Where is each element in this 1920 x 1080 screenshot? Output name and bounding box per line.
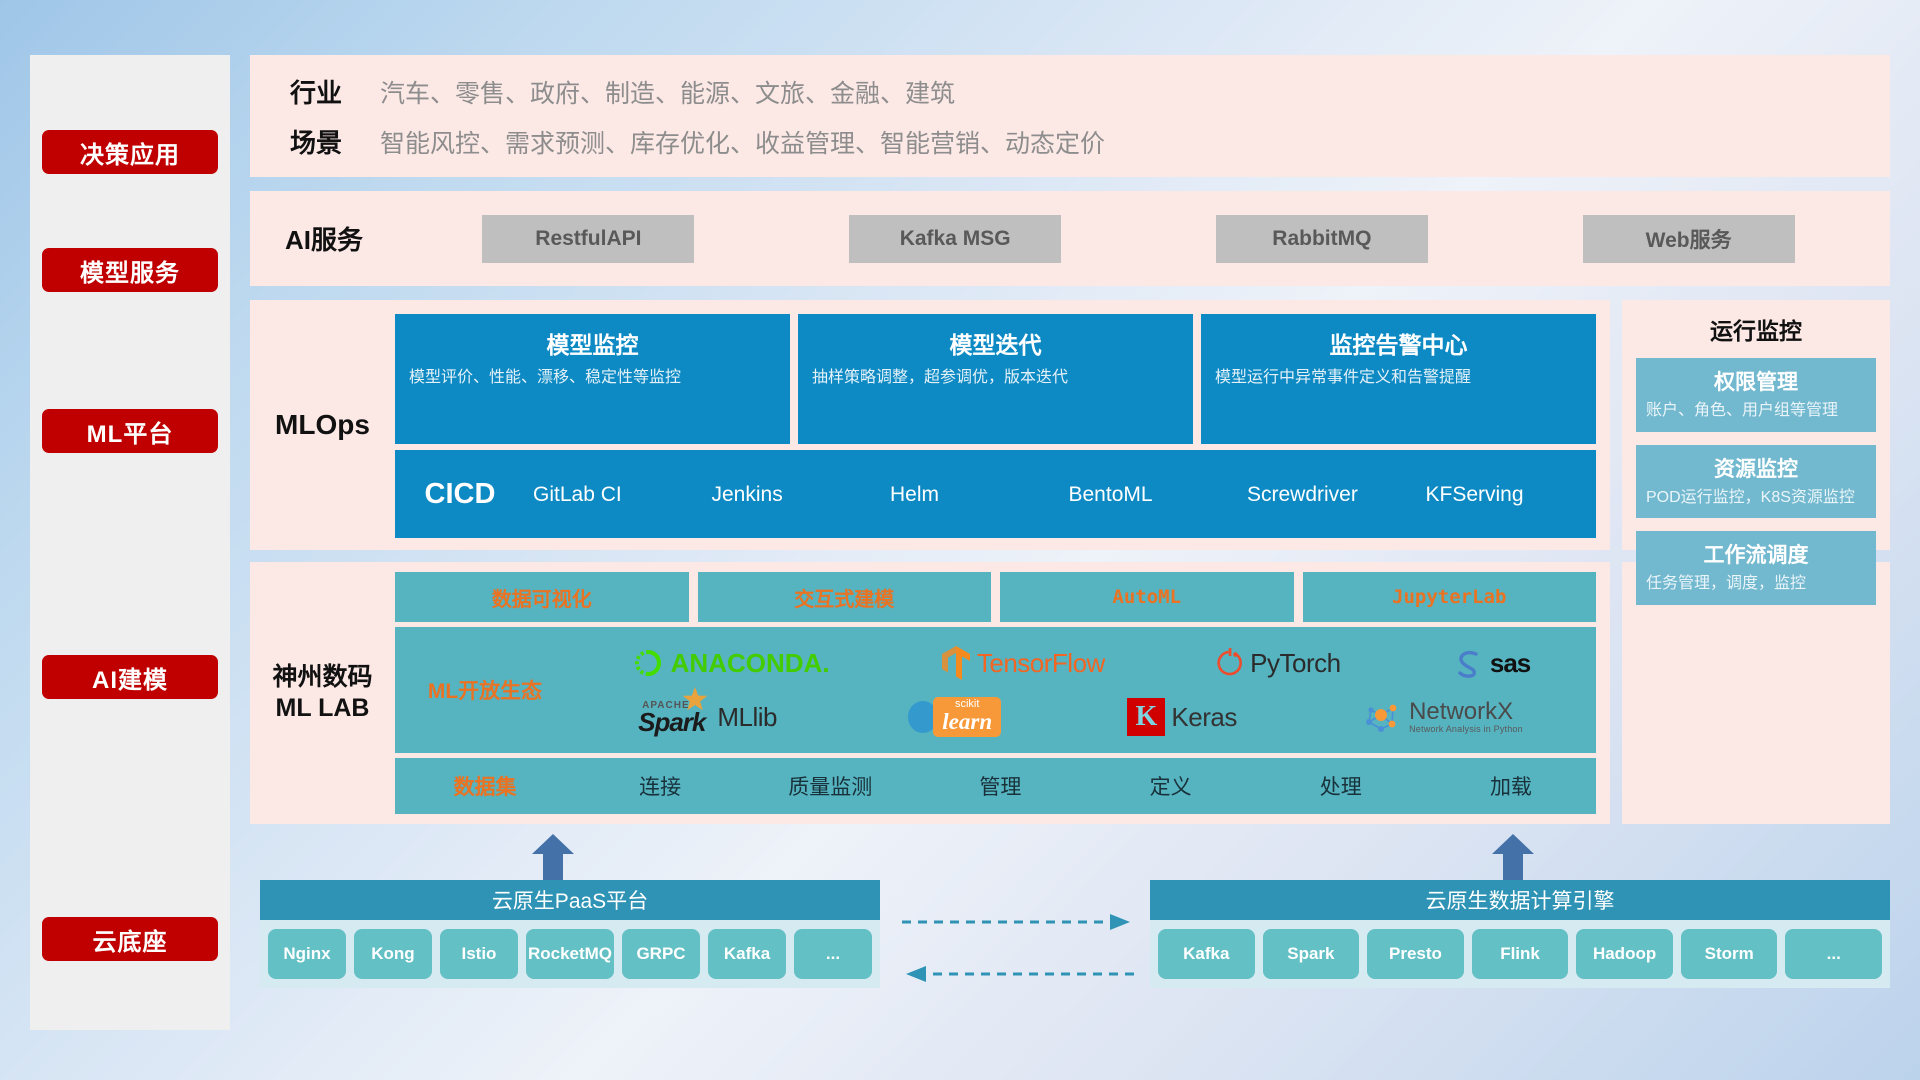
tensorflow-logo: TensorFlow	[941, 645, 1105, 681]
ai-service-rabbitmq[interactable]: RabbitMQ	[1216, 215, 1428, 263]
card-title: 资源监控	[1646, 453, 1866, 483]
networkx-tagline: Network Analysis in Python	[1409, 724, 1523, 734]
stage-label: ML平台	[87, 414, 174, 449]
cicd-item-gitlab-ci[interactable]: GitLab CI	[525, 484, 704, 505]
card-desc: 任务管理，调度，监控	[1646, 573, 1866, 595]
dataset-item-quality[interactable]: 质量监测	[745, 771, 915, 801]
stage-rail: 决策应用 模型服务 ML平台 AI建模 云底座	[30, 55, 230, 1030]
ai-service-kafka-msg[interactable]: Kafka MSG	[849, 215, 1061, 263]
monitor-card-workflow[interactable]: 工作流调度 任务管理，调度，监控	[1636, 531, 1876, 605]
mlops-card-model-monitoring[interactable]: 模型监控 模型评价、性能、漂移、稳定性等监控	[395, 314, 790, 444]
paas-chip-istio[interactable]: Istio	[440, 929, 518, 979]
ecosystem-logo-grid: ANACONDA. TensorFlow	[575, 637, 1596, 743]
ml-lab-pane: 神州数码 ML LAB 数据可视化 交互式建模 AutoML JupyterLa…	[250, 562, 1610, 824]
paas-chip-more[interactable]: ...	[794, 929, 872, 979]
ml-lab-label: 神州数码 ML LAB	[250, 572, 395, 814]
dataset-title: 数据集	[395, 771, 575, 801]
dataset-item-load[interactable]: 加载	[1426, 771, 1596, 801]
mlops-pane: MLOps 模型监控 模型评价、性能、漂移、稳定性等监控 模型迭代 抽样策略调整…	[250, 300, 1610, 550]
learn-wordmark: learn	[942, 710, 992, 733]
runtime-monitor-pane: 运行监控 权限管理 账户、角色、用户组等管理 资源监控 POD运行监控，K8S资…	[1622, 300, 1890, 550]
cicd-item-bentoml[interactable]: BentoML	[1061, 484, 1240, 505]
compute-title: 云原生数据计算引擎	[1150, 880, 1890, 920]
paas-chip-row: Nginx Kong Istio RocketMQ GRPC Kafka ...	[260, 920, 880, 988]
keras-logo: K Keras	[1127, 698, 1236, 736]
paas-chip-grpc[interactable]: GRPC	[622, 929, 700, 979]
mlops-card-alert-center[interactable]: 监控告警中心 模型运行中异常事件定义和告警提醒	[1201, 314, 1596, 444]
paas-chip-nginx[interactable]: Nginx	[268, 929, 346, 979]
monitor-card-resource[interactable]: 资源监控 POD运行监控，K8S资源监控	[1636, 445, 1876, 519]
paas-chip-kong[interactable]: Kong	[354, 929, 432, 979]
mlops-card-row: 模型监控 模型评价、性能、漂移、稳定性等监控 模型迭代 抽样策略调整，超参调优，…	[395, 314, 1596, 444]
cloud-native-paas-group: 云原生PaaS平台 Nginx Kong Istio RocketMQ GRPC…	[260, 880, 880, 988]
card-title: 模型监控	[409, 326, 776, 360]
industry-label: 行业	[250, 73, 380, 110]
compute-chip-spark[interactable]: Spark	[1263, 929, 1360, 979]
networkx-wordmark: NetworkX	[1409, 700, 1513, 724]
compute-up-arrow-icon	[1490, 834, 1536, 882]
card-desc: 抽样策略调整，超参调优，版本迭代	[812, 367, 1179, 389]
dataset-items: 连接 质量监测 管理 定义 处理 加载	[575, 771, 1596, 801]
dataset-item-connect[interactable]: 连接	[575, 771, 745, 801]
ml-lab-tool-row: 数据可视化 交互式建模 AutoML JupyterLab	[395, 572, 1596, 622]
stage-label: AI建模	[92, 660, 168, 695]
ml-open-ecosystem-label: ML开放生态	[395, 675, 575, 705]
stage-label: 决策应用	[80, 135, 180, 170]
tool-interactive-modeling[interactable]: 交互式建模	[698, 572, 992, 622]
runtime-monitor-title: 运行监控	[1636, 312, 1876, 346]
cicd-item-jenkins[interactable]: Jenkins	[704, 484, 883, 505]
card-desc: 账户、角色、用户组等管理	[1646, 400, 1866, 422]
mlops-content: 模型监控 模型评价、性能、漂移、稳定性等监控 模型迭代 抽样策略调整，超参调优，…	[395, 300, 1610, 550]
dataset-row: 数据集 连接 质量监测 管理 定义 处理 加载	[395, 758, 1596, 814]
ai-service-band: AI服务 RestfulAPI Kafka MSG RabbitMQ Web服务	[250, 191, 1890, 286]
cicd-title: CICD	[395, 478, 525, 511]
ml-lab-label-line1: 神州数码	[272, 662, 372, 693]
ai-service-cell: Web服务	[1505, 215, 1872, 263]
compute-chip-more[interactable]: ...	[1785, 929, 1882, 979]
compute-chip-flink[interactable]: Flink	[1472, 929, 1569, 979]
spark-star-icon	[682, 687, 708, 713]
dataset-item-define[interactable]: 定义	[1086, 771, 1256, 801]
tool-data-visualization[interactable]: 数据可视化	[395, 572, 689, 622]
keras-mark-icon: K	[1127, 698, 1165, 736]
sas-logo: sas	[1452, 647, 1530, 679]
card-title: 模型迭代	[812, 326, 1179, 360]
scenario-row: 场景 智能风控、需求预测、库存优化、收益管理、智能营销、动态定价	[250, 123, 1105, 160]
stage-label: 模型服务	[80, 253, 180, 288]
tensorflow-mark-icon	[941, 645, 971, 681]
ml-lab-label-line2: ML LAB	[276, 693, 370, 724]
card-desc: 模型运行中异常事件定义和告警提醒	[1215, 367, 1582, 389]
sas-wordmark: sas	[1490, 648, 1530, 679]
tool-automl[interactable]: AutoML	[1000, 572, 1294, 622]
dataset-item-process[interactable]: 处理	[1256, 771, 1426, 801]
stage-chip-ai-modeling[interactable]: AI建模	[42, 655, 218, 699]
ai-service-list: RestfulAPI Kafka MSG RabbitMQ Web服务	[405, 215, 1890, 263]
ml-platform-band: MLOps 模型监控 模型评价、性能、漂移、稳定性等监控 模型迭代 抽样策略调整…	[250, 300, 1890, 550]
scikit-learn-logo: scikit learn	[903, 697, 1001, 737]
anaconda-wordmark: ANACONDA.	[671, 648, 830, 679]
paas-chip-kafka[interactable]: Kafka	[708, 929, 786, 979]
compute-chip-kafka[interactable]: Kafka	[1158, 929, 1255, 979]
ai-service-cell: RabbitMQ	[1139, 215, 1506, 263]
decision-application-band: 行业 汽车、零售、政府、制造、能源、文旅、金融、建筑 场景 智能风控、需求预测、…	[250, 55, 1890, 177]
tensorflow-wordmark: TensorFlow	[977, 648, 1105, 679]
ml-lab-content: 数据可视化 交互式建模 AutoML JupyterLab ML开放生态	[395, 572, 1596, 814]
ml-open-ecosystem-row: ML开放生态 ANACONDA.	[395, 627, 1596, 753]
logo-line-bottom: APACHE Spark MLlib	[575, 691, 1586, 743]
cicd-items: GitLab CI Jenkins Helm BentoML Screwdriv…	[525, 484, 1596, 505]
cloud-native-compute-group: 云原生数据计算引擎 Kafka Spark Presto Flink Hadoo…	[1150, 880, 1890, 988]
card-desc: POD运行监控，K8S资源监控	[1646, 487, 1866, 509]
architecture-main: 行业 汽车、零售、政府、制造、能源、文旅、金融、建筑 场景 智能风控、需求预测、…	[250, 55, 1890, 1014]
anaconda-mark-icon	[631, 646, 665, 680]
ai-service-restfulapi[interactable]: RestfulAPI	[482, 215, 694, 263]
card-title: 工作流调度	[1646, 539, 1866, 569]
cicd-item-helm[interactable]: Helm	[882, 484, 1061, 505]
ai-service-cell: Kafka MSG	[772, 215, 1139, 263]
pytorch-wordmark: PyTorch	[1250, 648, 1340, 679]
stage-chip-decision-app[interactable]: 决策应用	[42, 130, 218, 174]
paas-title: 云原生PaaS平台	[260, 880, 880, 920]
stage-chip-cloud-base[interactable]: 云底座	[42, 917, 218, 961]
mllib-wordmark: MLlib	[717, 702, 777, 733]
networkx-graph-icon	[1363, 700, 1403, 734]
compute-chip-hadoop[interactable]: Hadoop	[1576, 929, 1673, 979]
sas-mark-icon	[1452, 647, 1484, 679]
spark-wordmark: Spark	[638, 711, 705, 733]
dataset-item-manage[interactable]: 管理	[915, 771, 1085, 801]
networkx-logo: NetworkX Network Analysis in Python	[1363, 700, 1523, 734]
mlops-card-model-iteration[interactable]: 模型迭代 抽样策略调整，超参调优，版本迭代	[798, 314, 1193, 444]
stage-label: 云底座	[93, 922, 168, 957]
compute-chip-presto[interactable]: Presto	[1367, 929, 1464, 979]
pytorch-logo: PyTorch	[1216, 647, 1340, 679]
keras-wordmark: Keras	[1171, 702, 1236, 733]
mlops-label: MLOps	[250, 300, 395, 550]
stage-chip-ml-platform[interactable]: ML平台	[42, 409, 218, 453]
logo-line-top: ANACONDA. TensorFlow	[575, 637, 1586, 689]
card-title: 监控告警中心	[1215, 326, 1582, 360]
card-title: 权限管理	[1646, 366, 1866, 396]
scenario-value: 智能风控、需求预测、库存优化、收益管理、智能营销、动态定价	[380, 124, 1105, 160]
monitor-card-permission[interactable]: 权限管理 账户、角色、用户组等管理	[1636, 358, 1876, 432]
ai-service-cell: RestfulAPI	[405, 215, 772, 263]
cicd-bar: CICD GitLab CI Jenkins Helm BentoML Scre…	[395, 450, 1596, 538]
tool-jupyterlab[interactable]: JupyterLab	[1303, 572, 1597, 622]
industry-value: 汽车、零售、政府、制造、能源、文旅、金融、建筑	[380, 74, 955, 110]
cloud-base-band: 云原生PaaS平台 Nginx Kong Istio RocketMQ GRPC…	[250, 834, 1890, 1014]
pytorch-mark-icon	[1216, 647, 1244, 679]
anaconda-logo: ANACONDA.	[631, 646, 830, 680]
bidirectional-dashed-arrows	[898, 912, 1138, 984]
card-desc: 模型评价、性能、漂移、稳定性等监控	[409, 367, 776, 389]
stage-chip-model-service[interactable]: 模型服务	[42, 248, 218, 292]
compute-chip-row: Kafka Spark Presto Flink Hadoop Storm ..…	[1150, 920, 1890, 988]
cicd-item-kfserving[interactable]: KFServing	[1418, 484, 1597, 505]
ai-service-label: AI服务	[250, 220, 405, 257]
ai-service-web[interactable]: Web服务	[1583, 215, 1795, 263]
paas-chip-rocketmq[interactable]: RocketMQ	[526, 929, 614, 979]
industry-row: 行业 汽车、零售、政府、制造、能源、文旅、金融、建筑	[250, 73, 955, 110]
scenario-label: 场景	[250, 123, 380, 160]
spark-mllib-logo: APACHE Spark MLlib	[638, 700, 777, 733]
paas-up-arrow-icon	[530, 834, 576, 882]
compute-chip-storm[interactable]: Storm	[1681, 929, 1778, 979]
cicd-item-screwdriver[interactable]: Screwdriver	[1239, 484, 1418, 505]
